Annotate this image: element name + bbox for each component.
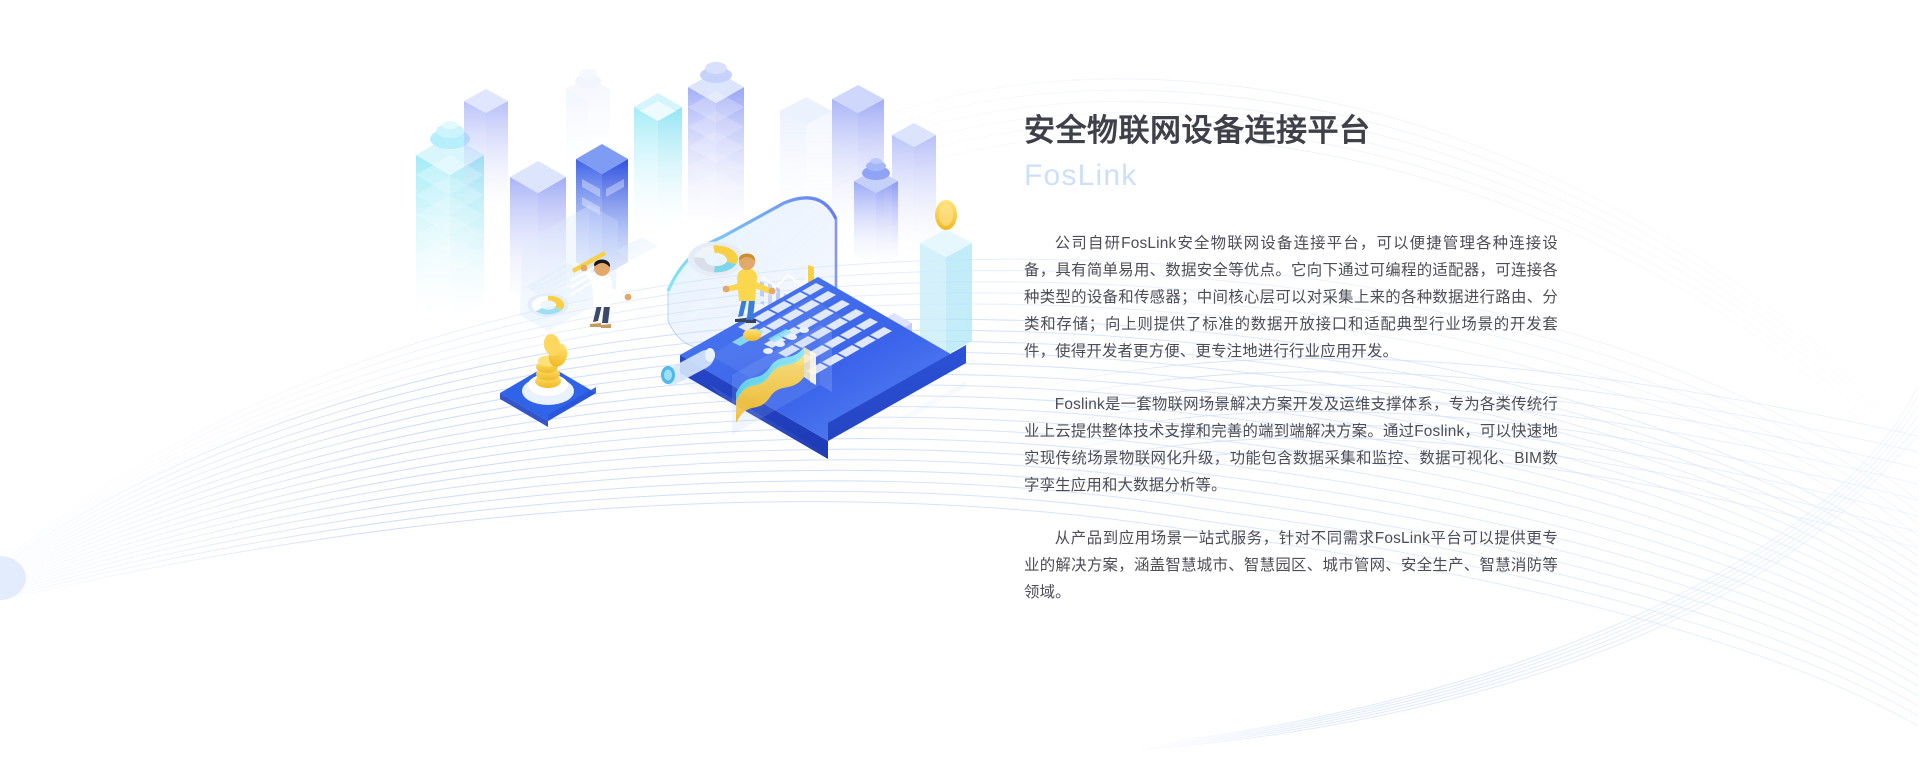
product-name-subtitle: FosLink <box>1024 157 1564 195</box>
coin-stack-platform <box>500 333 596 427</box>
building-violet-right-short <box>892 123 936 255</box>
hero-text-column: 安全物联网设备连接平台 FosLink 公司自研FosLink安全物联网设备连接… <box>1024 112 1564 606</box>
hero-banner: 安全物联网设备连接平台 FosLink 公司自研FosLink安全物联网设备连接… <box>0 0 1920 760</box>
paragraph-solution-system: Foslink是一套物联网场景解决方案开发及运维支撑体系，专为各类传统行业上云提… <box>1024 391 1558 499</box>
building-cyan-tall <box>634 93 682 237</box>
description-paragraphs: 公司自研FosLink安全物联网设备连接平台，可以便捷管理各种连接设备，具有简单… <box>1024 230 1564 606</box>
building-stepped-violet <box>688 62 744 233</box>
paragraph-platform-overview: 公司自研FosLink安全物联网设备连接平台，可以便捷管理各种连接设备，具有简单… <box>1024 230 1558 365</box>
paragraph-application-scenarios: 从产品到应用场景一站式服务，针对不同需求FosLink平台可以提供更专业的解决方… <box>1024 525 1558 606</box>
building-slim-violet-left <box>464 89 508 213</box>
page-title: 安全物联网设备连接平台 <box>1024 112 1564 151</box>
gold-coin-knob-icon <box>743 329 761 341</box>
smart-city-platform-illustration <box>380 55 1000 475</box>
